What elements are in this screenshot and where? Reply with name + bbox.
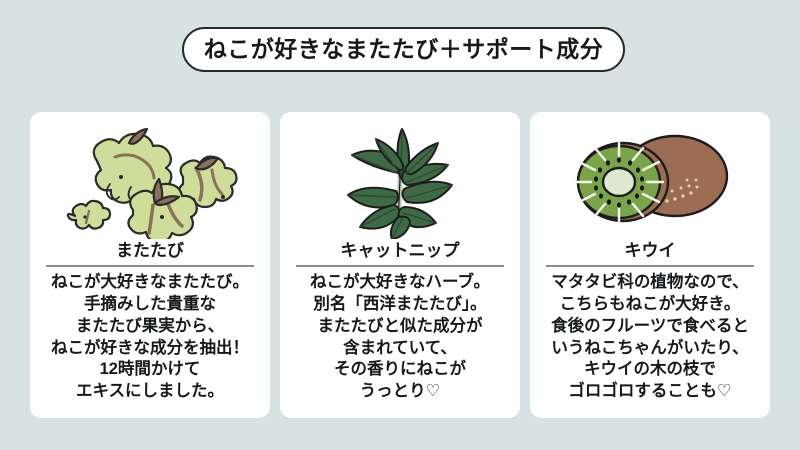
card-heading-catnip: キャットニップ xyxy=(341,242,460,261)
card-body-matatabi: ねこが大好きなまたたび。 手摘みした貴重な またたび果実から、 ねこが好きな成分… xyxy=(49,272,251,404)
card-divider xyxy=(546,265,754,267)
ingredient-card-catnip: キャットニップ ねこが大好きなハーブ。 別名「西洋またたび」。 またたびと似た成… xyxy=(280,112,520,418)
page-title: ねこが好きなまたたび＋サポート成分 xyxy=(204,38,604,61)
card-divider xyxy=(296,265,504,267)
card-heading-matatabi: またたび xyxy=(116,242,184,261)
card-body-catnip: ねこが大好きなハーブ。 別名「西洋またたび」。 またたびと似た成分が 含まれてい… xyxy=(308,272,492,404)
ingredient-card-matatabi: またたび ねこが大好きなまたたび。 手摘みした貴重な またたび果実から、 ねこが… xyxy=(30,112,270,418)
ingredient-card-kiwi: キウイ マタタビ科の植物なので、 こちらもねこが大好き。 食後のフルーツで食べる… xyxy=(530,112,770,418)
card-heading-kiwi: キウイ xyxy=(625,242,676,261)
kiwi-fruit-icon xyxy=(534,120,766,240)
ingredient-cards-row: またたび ねこが大好きなまたたび。 手摘みした貴重な またたび果実から、 ねこが… xyxy=(30,112,770,418)
card-divider xyxy=(46,265,254,267)
card-body-kiwi: マタタビ科の植物なので、 こちらもねこが大好き。 食後のフルーツで食べると いう… xyxy=(549,272,751,404)
catnip-plant-icon xyxy=(284,120,516,240)
page-title-pill: ねこが好きなまたたび＋サポート成分 xyxy=(182,27,625,72)
matatabi-fruit-icon xyxy=(34,120,266,240)
